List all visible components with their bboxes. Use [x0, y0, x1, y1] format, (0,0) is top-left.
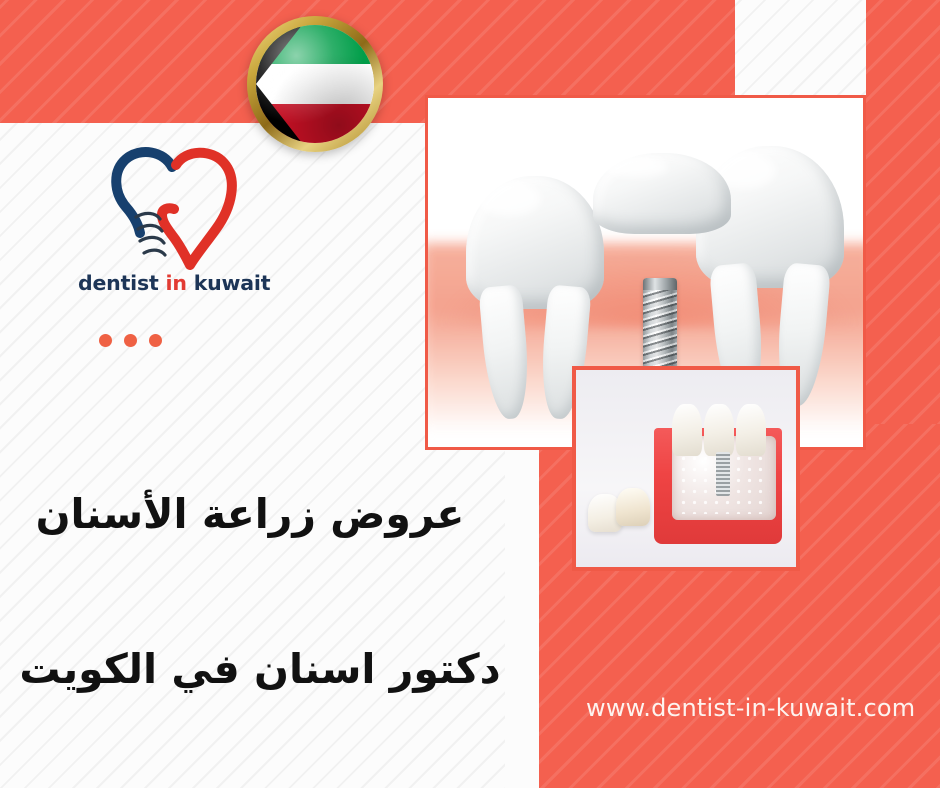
loose-crowns-group — [588, 488, 660, 532]
logo-word-dentist: dentist — [78, 271, 159, 295]
brand-logo[interactable]: dentist in kuwait — [78, 145, 268, 325]
website-url[interactable]: www.dentist-in-kuwait.com — [586, 694, 915, 722]
implant-crown — [593, 153, 731, 293]
flag-inner-disc — [256, 25, 374, 143]
red-block-right-stripes — [866, 0, 940, 425]
headline-secondary: دكتور اسنان في الكويت — [0, 645, 520, 693]
loose-crown-2 — [616, 488, 650, 526]
model-tooth-2 — [704, 404, 734, 456]
dot-1 — [99, 334, 112, 347]
decorative-dots — [99, 334, 162, 347]
implant-crown-cap — [593, 153, 731, 234]
red-block-right — [866, 0, 940, 425]
white-gutter-divider — [505, 424, 539, 788]
dot-3 — [149, 334, 162, 347]
poster-canvas: dentist in kuwait عروض زراعة الأسنان دكت… — [0, 0, 940, 788]
logo-word-in: in — [166, 271, 187, 295]
inset-photo-card — [572, 366, 800, 571]
tooth-implant-logo-icon — [100, 145, 250, 280]
flag-gloss-highlight — [256, 25, 374, 143]
model-implant-pin — [716, 452, 730, 496]
headline-primary: عروض زراعة الأسنان — [0, 490, 500, 538]
logo-word-kuwait: kuwait — [194, 271, 271, 295]
model-tooth-1 — [672, 404, 702, 456]
kuwait-flag-badge-icon — [247, 16, 383, 152]
dot-2 — [124, 334, 137, 347]
model-tooth-3 — [736, 404, 766, 456]
brand-logo-text: dentist in kuwait — [78, 271, 268, 295]
